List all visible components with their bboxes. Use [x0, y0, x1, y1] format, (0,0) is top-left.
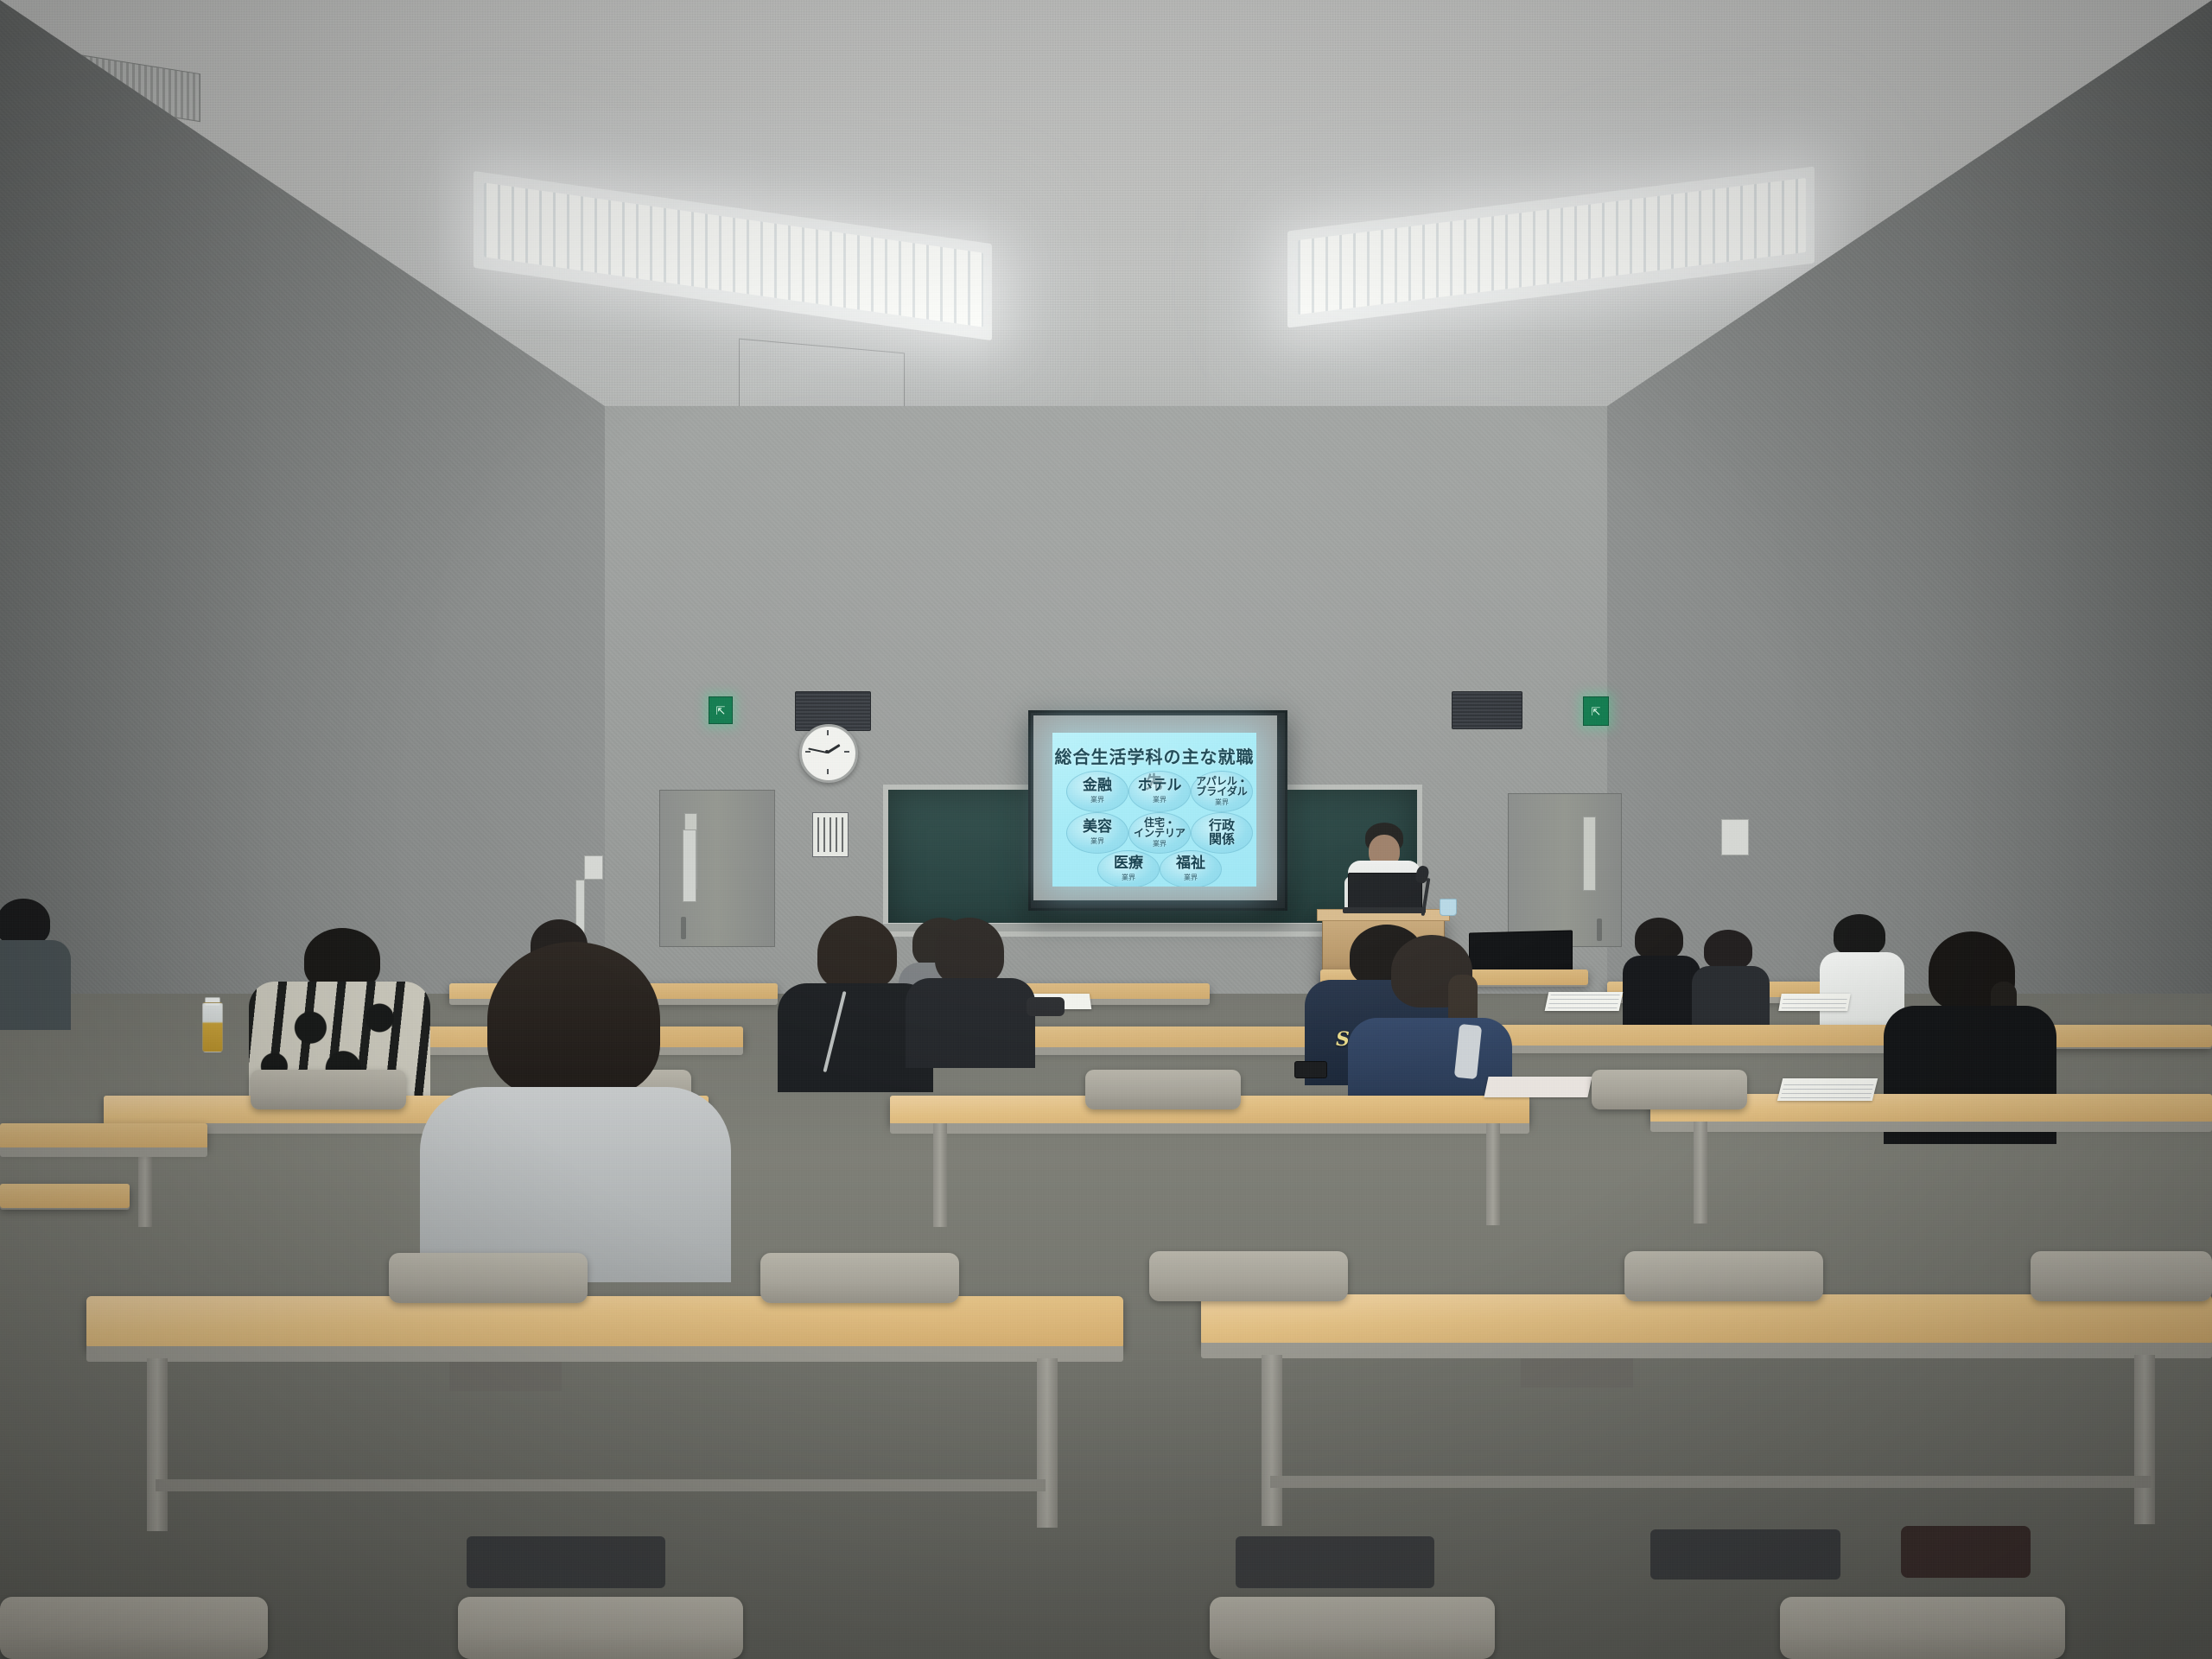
exit-sign-glyph: ⇱ [716, 705, 726, 716]
lecture-chair[interactable] [1624, 1251, 1823, 1301]
attendee-hair [1635, 918, 1683, 959]
attendee-hair [1704, 930, 1752, 969]
exit-sign-left: ⇱ [709, 696, 733, 724]
desk-leg [1694, 1122, 1707, 1224]
evacuation-notice [812, 812, 849, 857]
lecture-chair[interactable] [1780, 1597, 2065, 1659]
wall-outlet-plate[interactable] [584, 855, 603, 880]
exit-sign-glyph: ⇱ [1592, 706, 1601, 717]
desk-leg [933, 1123, 947, 1227]
notice-text-lines [817, 817, 843, 852]
attendee-hair [935, 918, 1004, 985]
slide-bubble: 行政 関係 [1191, 812, 1253, 854]
desk-edge [0, 1147, 207, 1157]
classroom-door-right[interactable] [1508, 793, 1622, 947]
slide-bubble: ホテル 業界 [1128, 771, 1191, 812]
bubble-sub-label: 業界 [1215, 798, 1229, 807]
wall-trim-strip [683, 829, 696, 902]
attendee-torso [1623, 956, 1700, 1025]
handout [1778, 994, 1851, 1011]
lecture-chair-seat[interactable] [467, 1536, 665, 1588]
wall-switch-plate[interactable] [1721, 819, 1749, 855]
attendee-hair [0, 899, 50, 945]
desk-edge [1201, 1343, 2212, 1358]
bubble-sub-label: 業界 [1153, 795, 1166, 804]
presentation-slide: 総合生活学科の主な就職先 金融 業界 ホテル 業界 アパレル・ ブライダル 業界… [1052, 733, 1256, 887]
desk-edge [1469, 1046, 1935, 1053]
clock-minute-hand [808, 747, 827, 753]
smartphone [1294, 1061, 1327, 1078]
desk-leg [2134, 1355, 2155, 1524]
lecture-chair[interactable] [1592, 1070, 1747, 1109]
lecture-desk [0, 1123, 207, 1149]
attendee-hair [1834, 914, 1885, 956]
handout [1545, 992, 1624, 1011]
lecture-desk [86, 1296, 1123, 1350]
lecture-chair-seat[interactable] [1650, 1529, 1840, 1580]
lecture-chair[interactable] [389, 1253, 588, 1303]
floor-bag [1901, 1526, 2031, 1578]
bubble-main-label: アパレル・ ブライダル [1196, 776, 1248, 797]
handout [1484, 1077, 1592, 1097]
lecture-desk [1469, 1025, 1935, 1047]
attendee-torso [0, 940, 71, 1030]
desk-modesty-panel [1521, 1358, 1633, 1388]
bubble-main-label: 福祉 [1176, 856, 1205, 871]
lecture-desk [1201, 1294, 2212, 1346]
attendee-gray-tshirt [420, 942, 731, 1270]
desk-leg [1486, 1123, 1500, 1225]
bubble-main-label: 住宅・ インテリア [1134, 817, 1185, 838]
desk-leg [1262, 1355, 1282, 1526]
wall-clock [799, 724, 858, 783]
bubble-main-label: 美容 [1083, 820, 1112, 835]
desk-leg [1037, 1358, 1058, 1528]
desk-edge [1650, 1122, 2212, 1132]
attendee-hair [817, 916, 897, 990]
bubble-main-label: 金融 [1083, 779, 1112, 793]
bubble-sub-label: 業界 [1090, 795, 1104, 804]
wall-speaker-right [1452, 691, 1522, 729]
slide-bubble: 住宅・ インテリア 業界 [1128, 812, 1191, 854]
attendee-black-row2-right [906, 918, 1035, 1065]
slide-bubble: 医療 業界 [1097, 850, 1160, 887]
attendee-black-mid-right [1624, 918, 1697, 1021]
lecture-chair[interactable] [0, 1597, 268, 1659]
lecture-chair[interactable] [1210, 1597, 1495, 1659]
clock-center-pin [825, 750, 829, 753]
lecture-chair[interactable] [251, 1070, 406, 1109]
attendee-torso [1692, 966, 1770, 1030]
desk-edge [86, 1346, 1123, 1362]
door-handle[interactable] [1597, 918, 1602, 941]
bubble-sub-label: 業界 [1090, 836, 1104, 846]
attendee-torso [906, 978, 1035, 1068]
bubble-main-label: 医療 [1114, 856, 1143, 871]
bubble-main-label: 行政 関係 [1209, 819, 1235, 846]
attendee-hair [487, 942, 660, 1097]
classroom-door-left[interactable] [659, 790, 775, 947]
slide-bubble: 美容 業界 [1066, 812, 1128, 854]
desk-modesty-panel [449, 1362, 562, 1391]
lecture-chair[interactable] [760, 1253, 959, 1303]
slide-bubble: 福祉 業界 [1160, 850, 1222, 887]
lecture-desk [0, 1184, 130, 1208]
desk-edge [890, 1123, 1529, 1134]
attendee-left-edge [0, 899, 67, 1028]
exit-sign-right: ⇱ [1583, 696, 1609, 726]
desk-rail [1270, 1476, 2152, 1488]
bubble-sub-label: 業界 [1184, 873, 1198, 882]
slide-bubble: アパレル・ ブライダル 業界 [1191, 771, 1253, 812]
lecture-chair[interactable] [1085, 1070, 1241, 1109]
desk-rail [156, 1479, 1046, 1491]
bubble-sub-label: 業界 [1153, 839, 1166, 849]
lecture-chair[interactable] [458, 1597, 743, 1659]
paper-cup [1440, 899, 1457, 916]
personal-bag [1027, 997, 1065, 1016]
desk-leg [147, 1358, 168, 1531]
presenter-laptop-base [1343, 907, 1426, 913]
bubble-sub-label: 業界 [1122, 873, 1135, 882]
door-handle[interactable] [681, 917, 686, 939]
lecture-hall-photo: ⇱ ⇱ 総合生活学科の主な就職先 金融 業界 [0, 0, 2212, 1659]
lecture-chair-seat[interactable] [1236, 1536, 1434, 1588]
attendee-row3-center [1694, 930, 1766, 1027]
slide-bubble: 金融 業界 [1066, 771, 1128, 812]
bubble-main-label: ホテル [1138, 779, 1182, 793]
tea-bottle [202, 1002, 223, 1052]
door-window [1583, 817, 1596, 891]
lecture-chair[interactable] [2031, 1251, 2212, 1301]
handout [1777, 1078, 1878, 1101]
lecture-chair[interactable] [1149, 1251, 1348, 1301]
